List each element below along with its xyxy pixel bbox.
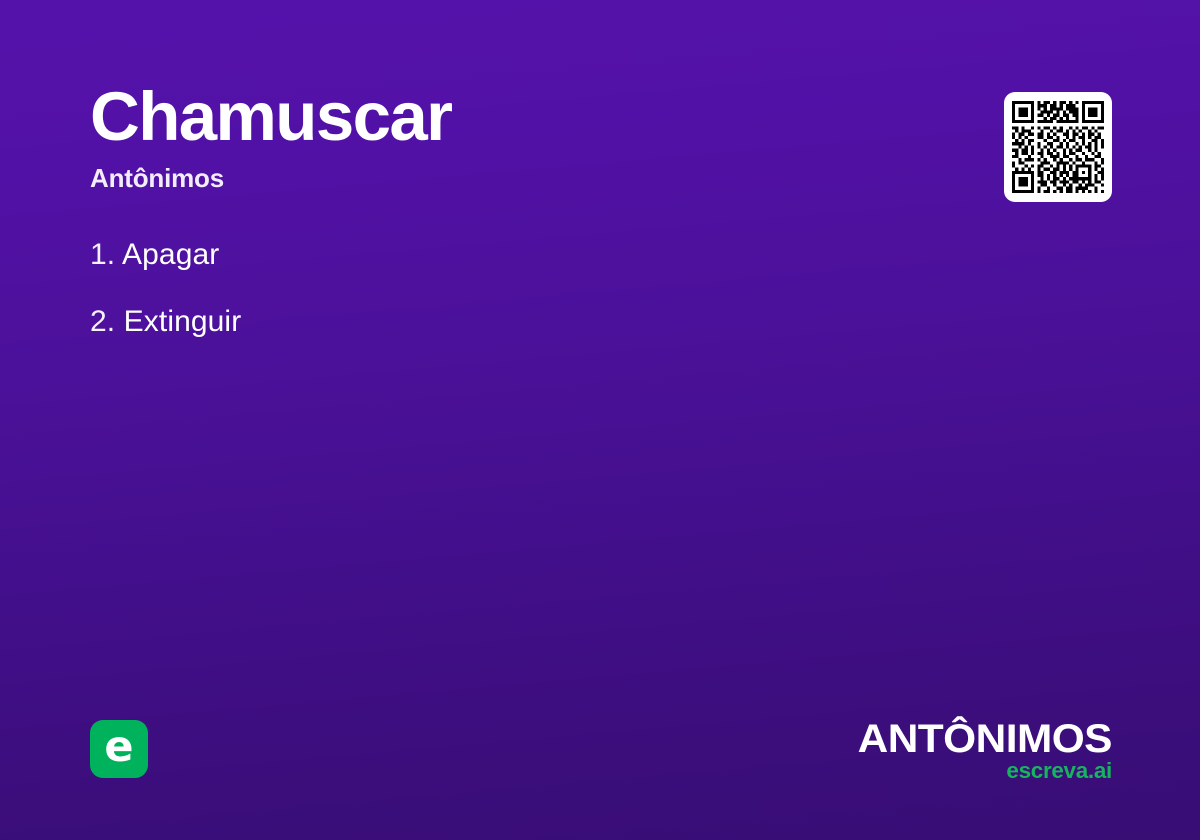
list-item-index: 1. (90, 238, 115, 271)
list-item-index: 2. (90, 305, 115, 338)
qr-code-icon (1012, 101, 1104, 193)
qr-code[interactable] (1004, 92, 1112, 202)
page-title: Chamuscar (90, 82, 950, 151)
list-item-word: Extinguir (124, 305, 242, 338)
list-item: 2. Extinguir (90, 303, 950, 341)
brand-logo[interactable]: ANTÔNIMOS escreva.ai (872, 719, 1112, 782)
brand-badge-glyph: e (104, 726, 133, 769)
list-item: 1. Apagar (90, 236, 950, 274)
brand-logo-domain: escreva.ai (867, 760, 1112, 782)
escreva-badge-icon[interactable]: e (90, 720, 148, 778)
header: Chamuscar Antônimos (90, 82, 950, 192)
antonyms-card: Chamuscar Antônimos 1. Apagar 2. Extingu… (0, 0, 1200, 840)
antonym-list: 1. Apagar 2. Extinguir (90, 236, 950, 370)
page-subtitle: Antônimos (90, 165, 950, 192)
brand-logo-title: ANTÔNIMOS (858, 719, 1112, 759)
list-item-word: Apagar (122, 238, 219, 271)
